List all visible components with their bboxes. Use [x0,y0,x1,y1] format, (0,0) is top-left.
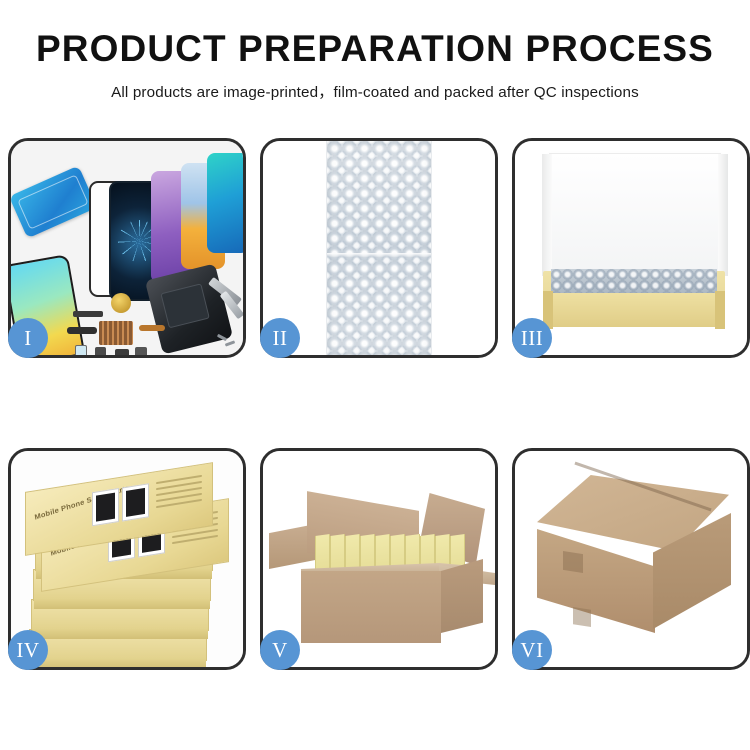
product-preparation-infographic: PRODUCT PREPARATION PROCESS All products… [0,0,750,750]
step-image-5 [263,451,495,667]
step-image-6 [515,451,747,667]
step-badge-6: VI [512,630,552,670]
step-panel-2: II [260,138,498,358]
step-badge-1: I [8,318,48,358]
bubble-wrapped-contents [551,269,717,295]
inner-box-right-edge [715,291,725,329]
step-image-4: Mobile Phone Spare Parts [11,451,243,667]
step-badge-5: V [260,630,300,670]
step-image-3 [515,141,747,355]
screws-group [217,333,241,349]
bubble-wrap-pack [326,141,432,355]
carton-handle-tab-bottom [573,607,591,627]
wireless-charging-coil [111,293,131,313]
phones-and-parts-scene [11,141,243,355]
step-badge-3: III [512,318,552,358]
logic-board-chip [99,321,133,345]
sealed-carton-scene [515,451,747,667]
step-badge-2: II [260,318,300,358]
small-component-1 [115,349,129,355]
steps-grid: I II [8,138,742,670]
carton-front-face [301,571,441,643]
bubble-wrap-seam [327,253,431,258]
carton-handle-tab-top [563,551,583,573]
box-product-photo-1b [122,483,149,521]
inner-box-scene [515,141,747,355]
step-image-2 [263,141,495,355]
bubble-wrap-scene [263,141,495,355]
small-component-3 [135,347,147,355]
step-panel-4: Mobile Phone Spare Parts [8,448,246,670]
small-component-2 [95,347,106,355]
inner-box-front-panel [543,293,725,327]
blue-adhesive-film [11,166,97,239]
stacked-boxes-scene: Mobile Phone Spare Parts [11,451,243,667]
step-image-1 [11,141,243,355]
box-side-3 [34,599,210,609]
step-panel-1: I [8,138,246,358]
speaker-part [73,311,103,317]
carton-left-face [537,529,655,633]
step-panel-3: III [512,138,750,358]
step-panel-6: VI [512,448,750,670]
step-panel-5: V [260,448,498,670]
page-subtitle: All products are image-printed，film-coat… [0,80,750,102]
carton-side-face [441,559,483,633]
box-product-photo-1a [92,488,119,526]
teal-phone [207,153,243,253]
sim-tray-part [75,345,87,355]
flex-cable-2 [139,325,165,331]
flex-cable-1 [67,327,97,334]
carton-loading-scene [263,451,495,667]
photo-fill-1b [126,488,145,517]
box-side-4 [32,629,208,639]
header: PRODUCT PREPARATION PROCESS All products… [0,0,750,102]
box-spec-lines-1 [156,475,202,516]
box-stack: Mobile Phone Spare Parts [15,469,243,665]
step-badge-4: IV [8,630,48,670]
photo-fill-1a [96,493,115,522]
box-side-5 [30,659,206,667]
page-title: PRODUCT PREPARATION PROCESS [0,30,750,69]
box-lid-open [549,153,721,277]
